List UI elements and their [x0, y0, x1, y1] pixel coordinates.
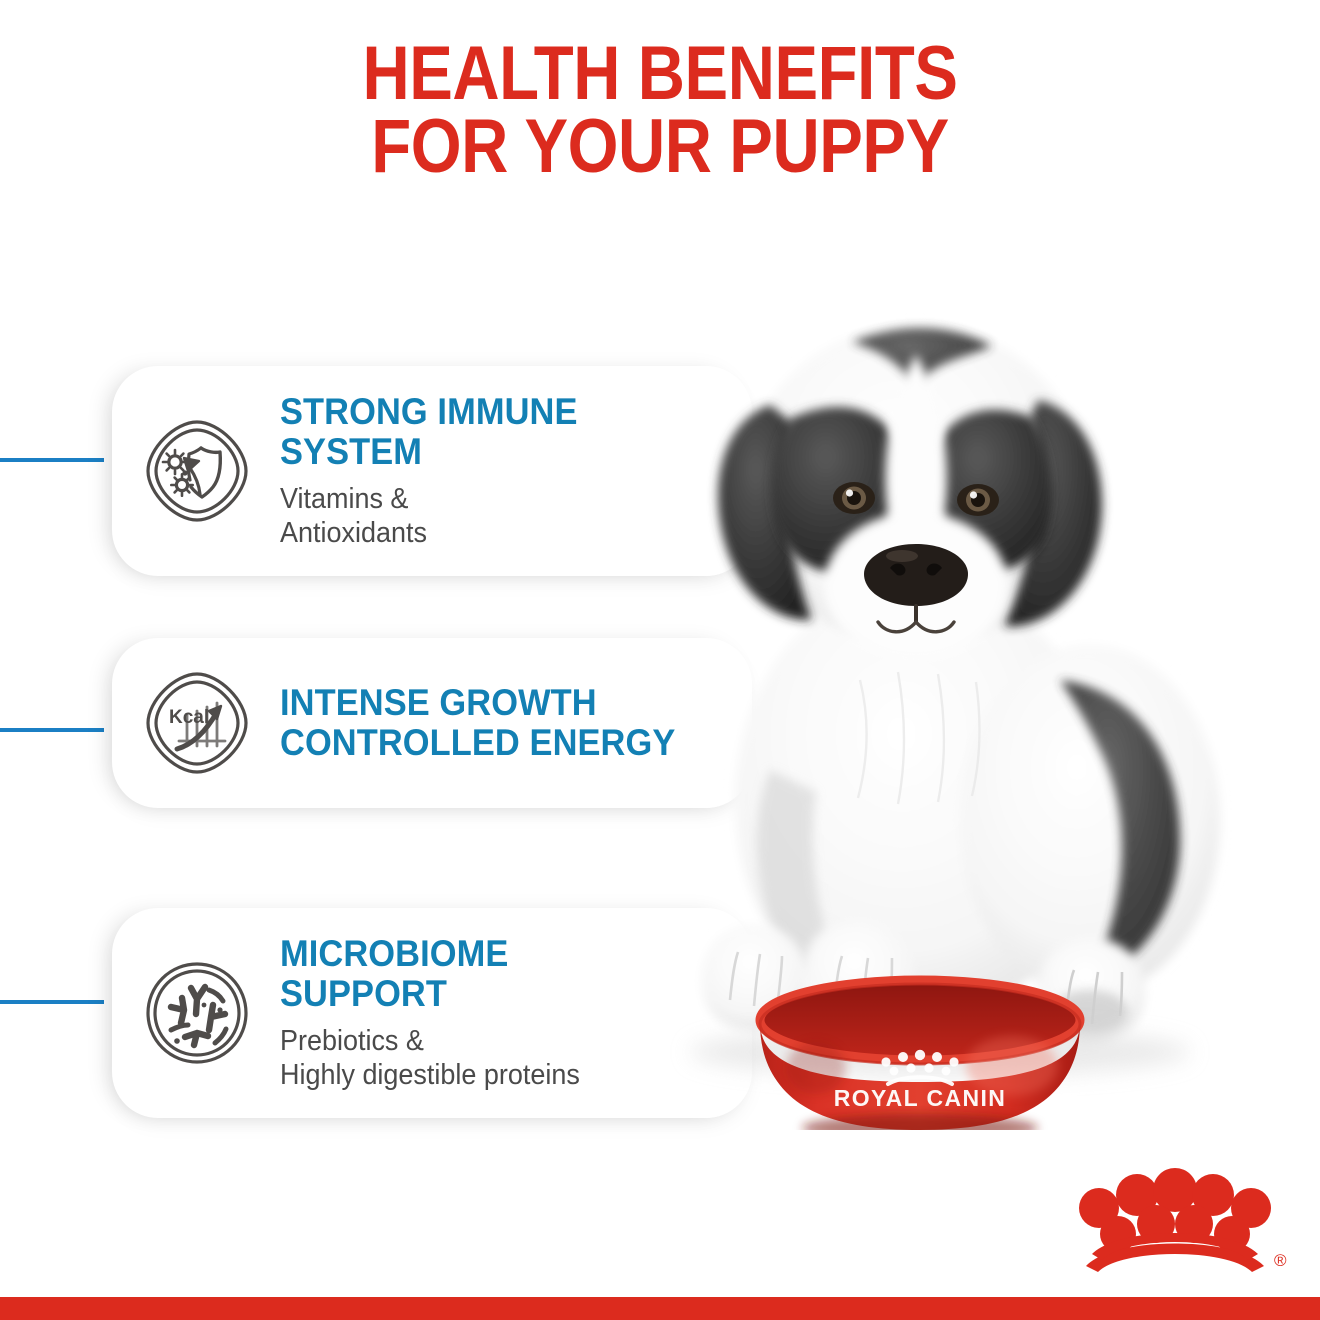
- benefit-subtext: Vitamins & Antioxidants: [280, 482, 719, 550]
- benefit-title: MICROBIOME SUPPORT: [280, 934, 719, 1014]
- benefit-text-intense-growth-controlled-energy: INTENSE GROWTH CONTROLLED ENERGY: [256, 683, 752, 763]
- kcal-growth-chart-icon: Kcal: [138, 664, 256, 782]
- bottom-red-bar: [0, 1297, 1320, 1320]
- shield-germs-icon: [138, 412, 256, 530]
- page-title: HEALTH BENEFITS FOR YOUR PUPPY: [92, 38, 1227, 184]
- connector-line-3: [0, 1000, 104, 1004]
- benefit-title: INTENSE GROWTH CONTROLLED ENERGY: [280, 683, 719, 763]
- benefit-card-intense-growth-controlled-energy: Kcal INTENSE GROWTH CONTROLLED ENERGY: [112, 638, 752, 808]
- benefit-card-microbiome-support: MICROBIOME SUPPORT Prebiotics & Highly d…: [112, 908, 752, 1118]
- connector-line-1: [0, 458, 104, 462]
- benefit-subtext: Prebiotics & Highly digestible proteins: [280, 1024, 719, 1092]
- benefit-text-microbiome-support: MICROBIOME SUPPORT Prebiotics & Highly d…: [256, 934, 752, 1092]
- page-title-line-1: HEALTH BENEFITS: [92, 38, 1227, 111]
- benefit-title: STRONG IMMUNE SYSTEM: [280, 392, 719, 472]
- svg-text:ROYAL CANIN: ROYAL CANIN: [834, 1085, 1007, 1111]
- benefit-text-strong-immune-system: STRONG IMMUNE SYSTEM Vitamins & Antioxid…: [256, 392, 752, 550]
- infographic-page: HEALTH BENEFITS FOR YOUR PUPPY: [0, 0, 1320, 1320]
- microbiome-bacteria-icon: [138, 954, 256, 1072]
- registered-trademark-mark: ®: [1274, 1251, 1287, 1270]
- benefit-card-strong-immune-system: STRONG IMMUNE SYSTEM Vitamins & Antioxid…: [112, 366, 752, 576]
- svg-text:Kcal: Kcal: [169, 707, 209, 728]
- page-title-line-2: FOR YOUR PUPPY: [92, 111, 1227, 184]
- connector-line-2: [0, 728, 104, 732]
- royal-canin-crown-logo: ®: [1062, 1162, 1288, 1274]
